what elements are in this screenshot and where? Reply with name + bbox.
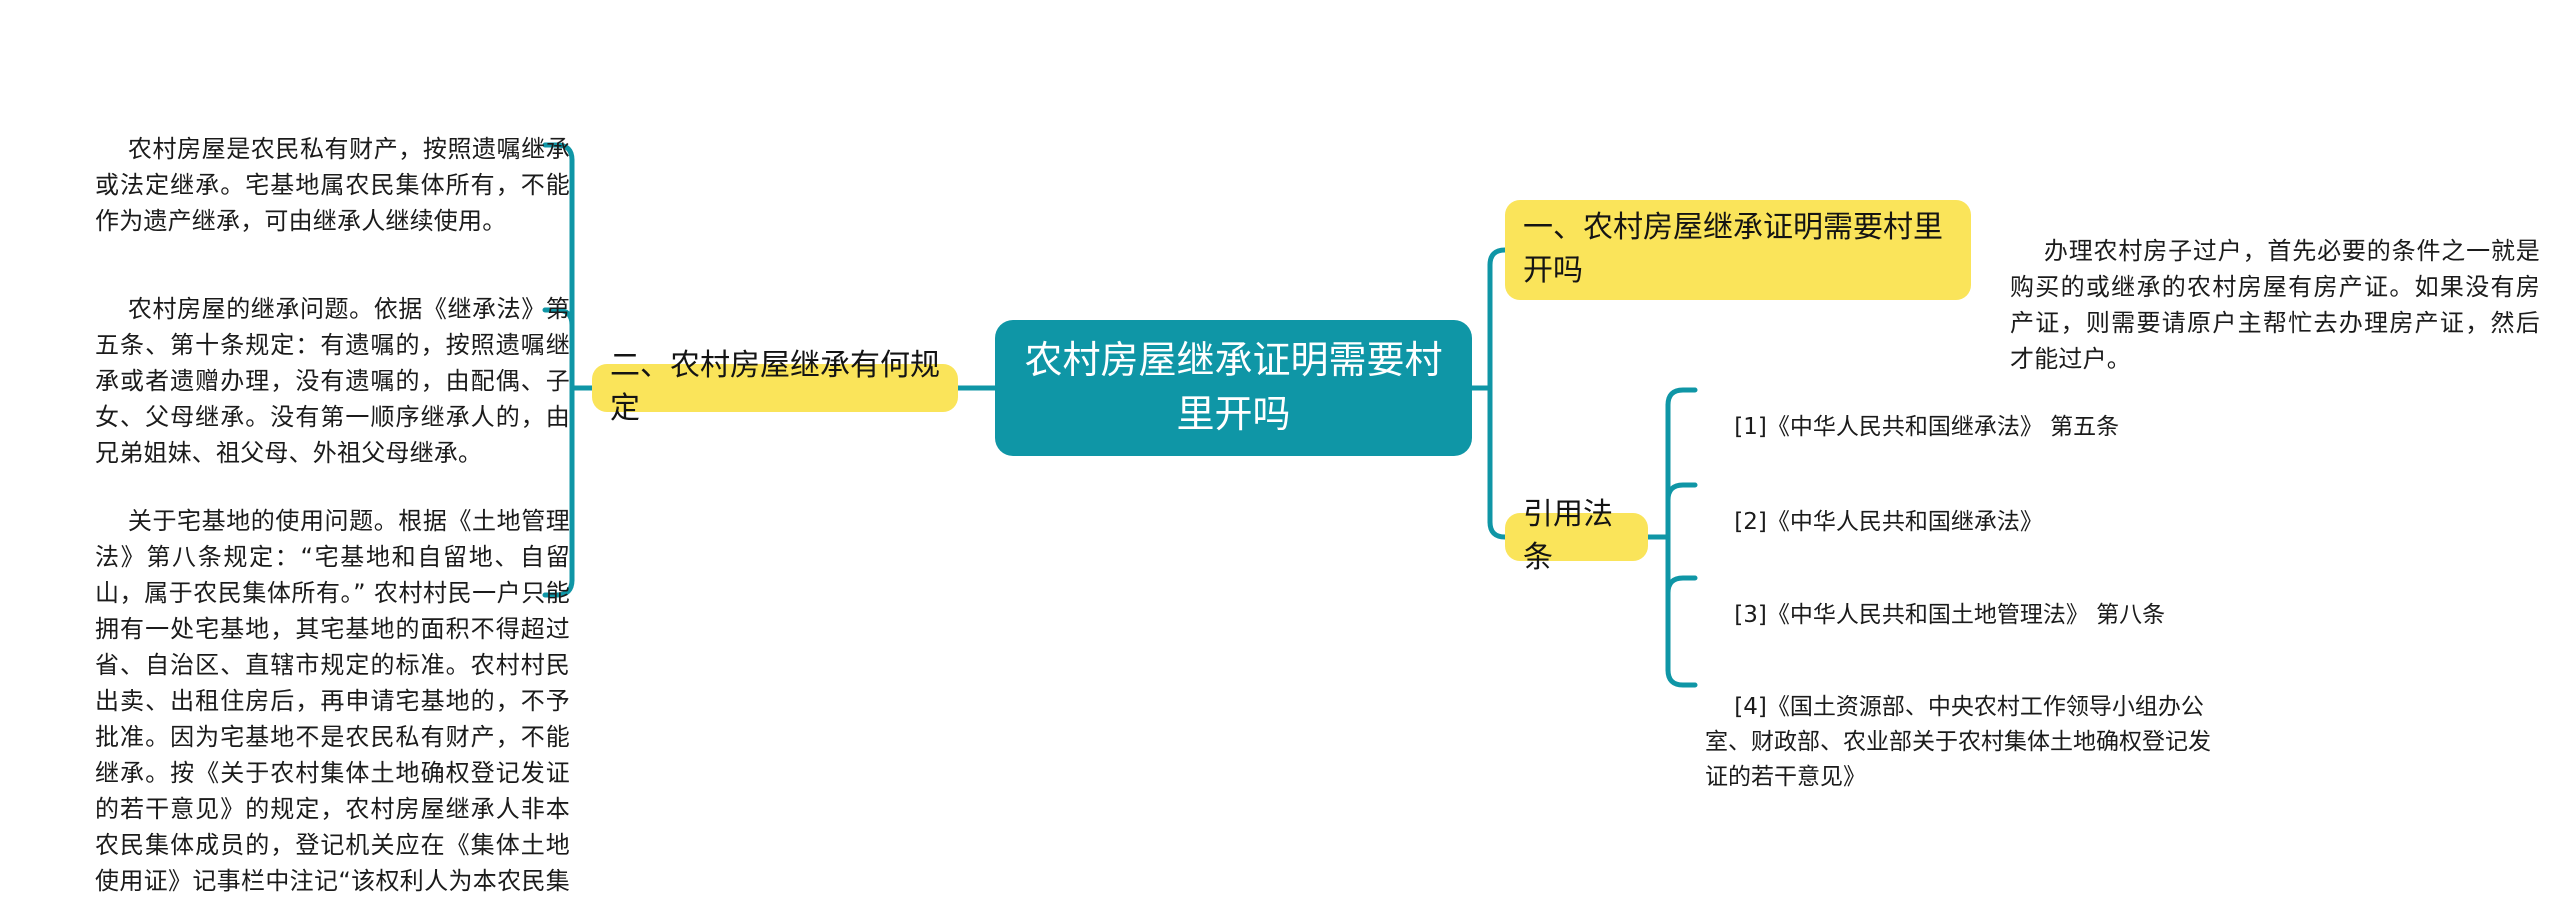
leaf-text-homestead-land: 关于宅基地的使用问题。根据《土地管理法》第八条规定：“宅基地和自留地、自留山，属…: [95, 467, 570, 904]
topic-node-section-two[interactable]: 二、农村房屋继承有何规定: [592, 364, 958, 412]
reference-item-3-label: [3]《中华人民共和国土地管理法》 第八条: [1734, 602, 2165, 628]
wire-ref-elbow-2: [1668, 485, 1695, 500]
topic-node-section-one-label: 一、农村房屋继承证明需要村里开吗: [1523, 207, 1953, 292]
reference-item-4: [4]《国土资源部、中央农村工作领导小组办公室、财政部、农业部关于农村集体土地确…: [1705, 655, 2225, 830]
leaf-text-private-property: 农村房屋是农民私有财产，按照遗嘱继承或法定继承。宅基地属农民集体所有，不能作为遗…: [95, 95, 570, 275]
wire-ref-elbow-3: [1668, 578, 1695, 593]
reference-item-4-label: [4]《国土资源部、中央农村工作领导小组办公室、财政部、农业部关于农村集体土地确…: [1705, 694, 2211, 790]
reference-item-2: [2]《中华人民共和国继承法》: [1705, 470, 2265, 575]
reference-item-1: [1]《中华人民共和国继承法》 第五条: [1705, 375, 2265, 480]
leaf-text-inheritance-law-label: 农村房屋的继承问题。依据《继承法》第五条、第十条规定：有遗嘱的，按照遗嘱继承或者…: [95, 295, 570, 467]
wire-ref-elbow-1: [1668, 390, 1695, 405]
leaf-text-property-certificate-label: 办理农村房子过户，首先必要的条件之一就是购买的或继承的农村房屋有房产证。如果没有…: [2010, 237, 2540, 373]
topic-node-citations[interactable]: 引用法条: [1505, 513, 1648, 561]
wire-right-elbow-bottom: [1490, 522, 1506, 537]
topic-node-section-one[interactable]: 一、农村房屋继承证明需要村里开吗: [1505, 200, 1971, 300]
root-node[interactable]: 农村房屋继承证明需要村里开吗: [995, 320, 1472, 456]
mindmap-canvas: 农村房屋继承证明需要村里开吗 一、农村房屋继承证明需要村里开吗 办理农村房子过户…: [0, 0, 2560, 904]
root-node-label: 农村房屋继承证明需要村里开吗: [1011, 334, 1456, 442]
wire-right-elbow-top: [1490, 250, 1506, 265]
leaf-text-homestead-land-label: 关于宅基地的使用问题。根据《土地管理法》第八条规定：“宅基地和自留地、自留山，属…: [95, 507, 570, 904]
wire-ref-elbow-4: [1668, 670, 1695, 685]
reference-item-2-label: [2]《中华人民共和国继承法》: [1734, 509, 2043, 535]
topic-node-section-two-label: 二、农村房屋继承有何规定: [610, 345, 940, 430]
topic-node-citations-label: 引用法条: [1523, 494, 1630, 579]
reference-item-3: [3]《中华人民共和国土地管理法》 第八条: [1705, 563, 2285, 668]
leaf-text-private-property-label: 农村房屋是农民私有财产，按照遗嘱继承或法定继承。宅基地属农民集体所有，不能作为遗…: [95, 135, 570, 235]
reference-item-1-label: [1]《中华人民共和国继承法》 第五条: [1734, 414, 2119, 440]
